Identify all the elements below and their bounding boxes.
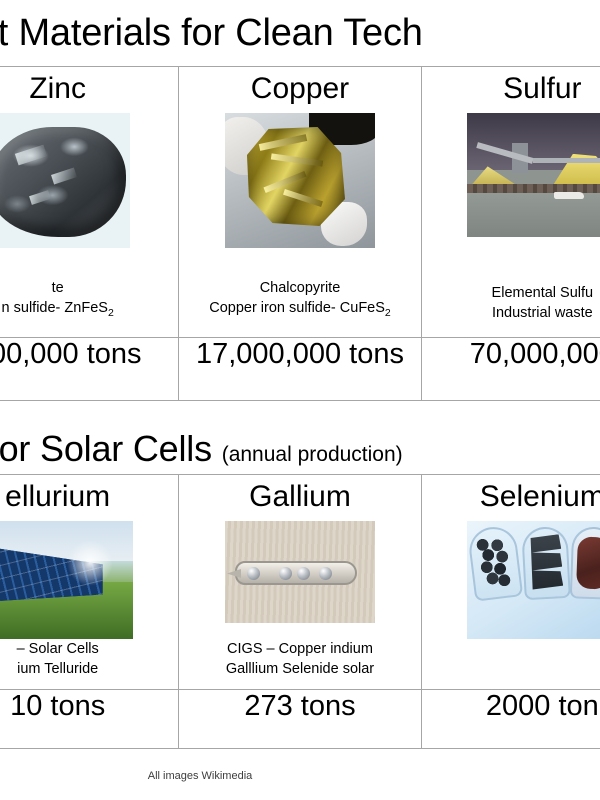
sphalerite-mineral-photo <box>0 113 130 248</box>
cell-zinc: Zinc te n sulfide- ZnFeS2 <box>0 67 179 338</box>
solar-panel-field-photo <box>0 521 133 639</box>
cell-production-gallium: 273 tons <box>179 690 421 749</box>
cell-title-zinc: Zinc <box>29 71 86 107</box>
page-title-solar-note: (annual production) <box>222 443 403 466</box>
gallium-ampoule-photo <box>225 521 375 623</box>
cell-sulfur: Sulfur Elemental Sulfu Ind <box>421 67 600 338</box>
cell-desc-tellurium-line1: – Solar Cells <box>17 639 99 659</box>
cell-desc-zinc-line1: te <box>2 278 114 298</box>
cell-desc-gallium: CIGS – Copper indium Galllium Selenide s… <box>226 639 374 689</box>
cell-production-copper: 17,000,000 tons <box>179 338 421 401</box>
cell-desc-copper-line1: Chalcopyrite <box>209 278 391 298</box>
cell-selenium: Selenium <box>421 475 600 690</box>
cell-production-selenium: 2000 ton <box>421 690 600 749</box>
cell-production-sulfur: 70,000,000 <box>421 338 600 401</box>
cell-desc-sulfur-line2: Industrial waste <box>492 303 594 323</box>
cell-production-zinc: 000,000 tons <box>0 338 179 401</box>
table-row-materials: Zinc te n sulfide- ZnFeS2 Copper <box>0 67 600 338</box>
table-row-materials: ellurium – Solar Cells ium Telluride <box>0 475 600 690</box>
cell-desc-gallium-line1: CIGS – Copper indium <box>226 639 374 659</box>
page-title-solar-main: rials for Solar Cells <box>0 428 212 469</box>
cell-title-sulfur: Sulfur <box>503 71 581 107</box>
solar-materials-table: ellurium – Solar Cells ium Telluride <box>0 474 600 749</box>
cell-gallium: Gallium CIGS – Copper indium Galllium Se… <box>179 475 421 690</box>
cell-tellurium: ellurium – Solar Cells ium Telluride <box>0 475 179 690</box>
cell-desc-gallium-line2: Galllium Selenide solar <box>226 659 374 679</box>
cell-title-copper: Copper <box>251 71 349 107</box>
page-title-solar: rials for Solar Cells (annual production… <box>0 425 600 479</box>
cell-desc-sulfur: Elemental Sulfu Industrial waste <box>492 283 594 337</box>
image-credit-footer: All images Wikimedia <box>0 770 400 782</box>
cell-desc-zinc: te n sulfide- ZnFeS2 <box>2 278 114 337</box>
sulfur-stockpile-port-photo <box>467 113 600 237</box>
cell-title-selenium: Selenium <box>480 479 600 515</box>
cell-desc-tellurium-line2: ium Telluride <box>17 659 99 679</box>
table-row-production: 10 tons 273 tons 2000 ton <box>0 690 600 749</box>
slide-canvas: ndant Materials for Clean Tech Zinc te n… <box>0 0 600 800</box>
cell-title-tellurium: ellurium <box>5 479 110 515</box>
cell-title-gallium: Gallium <box>249 479 351 515</box>
abundant-materials-table: Zinc te n sulfide- ZnFeS2 Copper <box>0 66 600 401</box>
selenium-samples-vials-photo <box>467 521 600 639</box>
cell-copper: Copper Chalcopyrite Copper iron sulfide <box>179 67 421 338</box>
page-title-abundant: ndant Materials for Clean Tech <box>0 8 600 58</box>
cell-desc-copper-line2: Copper iron sulfide- CuFeS2 <box>209 298 391 323</box>
cell-desc-tellurium: – Solar Cells ium Telluride <box>17 639 99 689</box>
table-row-production: 000,000 tons 17,000,000 tons 70,000,000 <box>0 338 600 401</box>
chalcopyrite-mineral-photo <box>225 113 375 248</box>
cell-production-tellurium: 10 tons <box>0 690 179 749</box>
cell-desc-sulfur-line1: Elemental Sulfu <box>492 283 594 303</box>
cell-desc-copper: Chalcopyrite Copper iron sulfide- CuFeS2 <box>209 278 391 337</box>
cell-desc-zinc-line2: n sulfide- ZnFeS2 <box>2 298 114 323</box>
